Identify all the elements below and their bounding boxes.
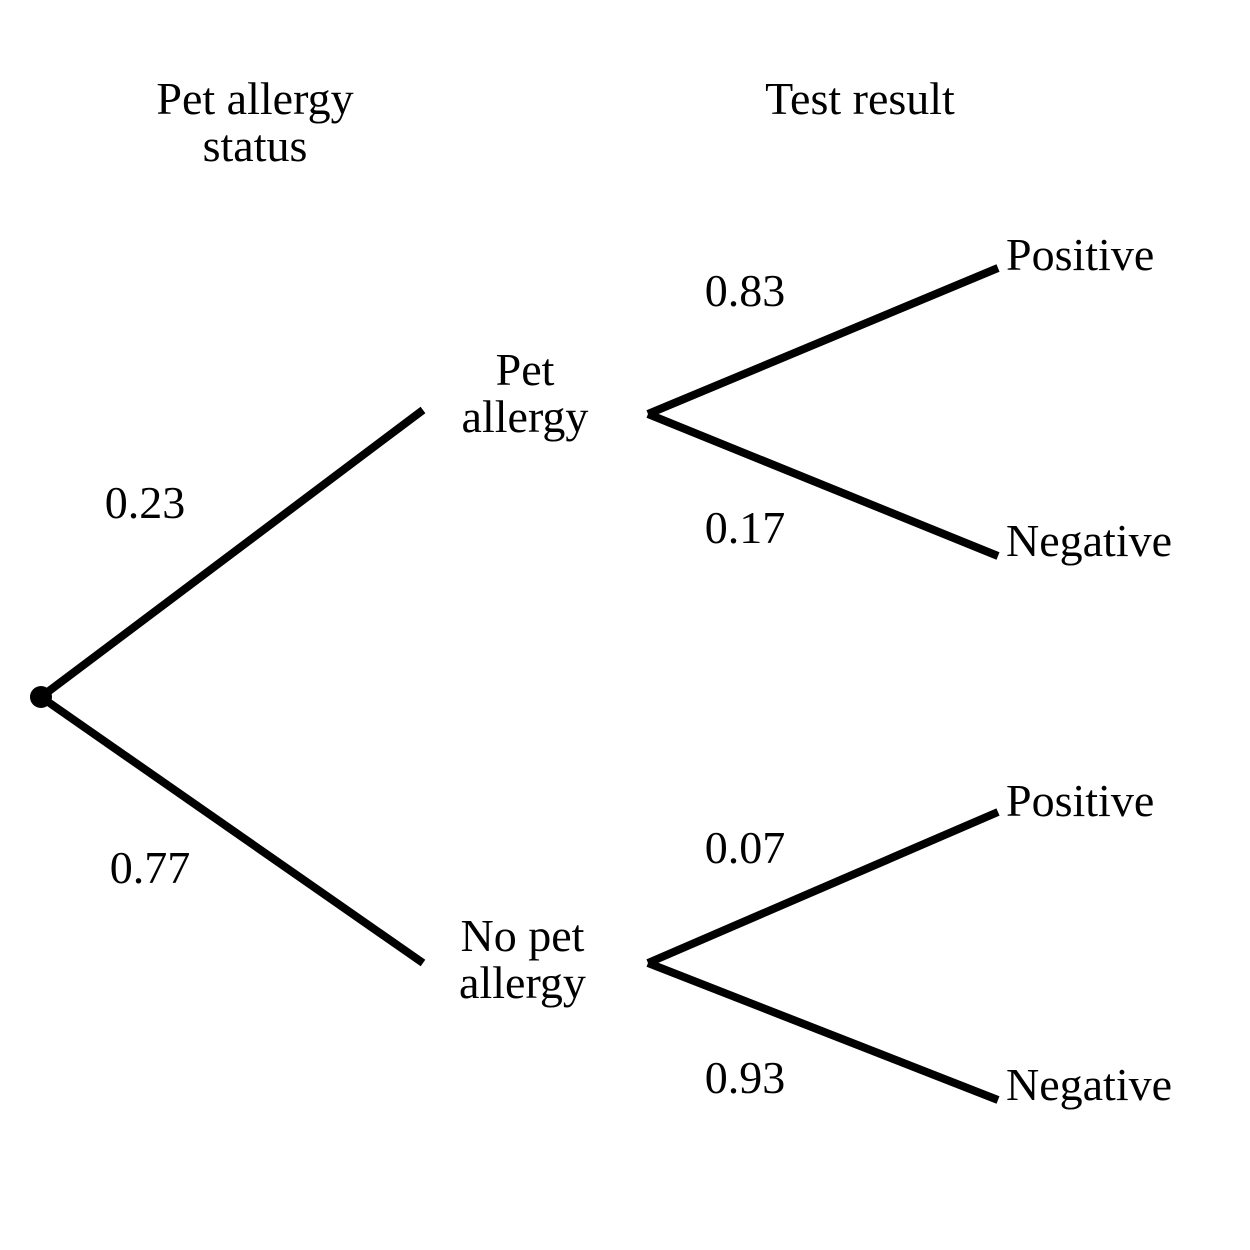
column-header-test-result: Test result <box>690 76 1030 123</box>
leaf-label-positive-pet-allergy: Positive <box>1006 232 1236 279</box>
leaf-label-negative-pet-allergy: Negative <box>1006 518 1246 565</box>
probability-label-negative-given-pet-allergy: 0.17 <box>655 505 835 552</box>
probability-label-positive-given-no-pet-allergy: 0.07 <box>655 825 835 872</box>
probability-label-negative-given-no-pet-allergy: 0.93 <box>655 1055 835 1102</box>
node-label-no-pet-allergy: No pet allergy <box>400 913 645 1007</box>
node-label-pet-allergy: Pet allergy <box>410 347 640 441</box>
branch-line-pet-allergy <box>41 410 423 697</box>
probability-label-positive-given-pet-allergy: 0.83 <box>655 268 835 315</box>
leaf-label-negative-no-pet-allergy: Negative <box>1006 1062 1246 1109</box>
column-header-pet-allergy-status: Pet allergy status <box>55 76 455 170</box>
leaf-label-positive-no-pet-allergy: Positive <box>1006 778 1236 825</box>
probability-label-pet-allergy: 0.23 <box>55 480 235 527</box>
probability-label-no-pet-allergy: 0.77 <box>60 845 240 892</box>
probability-tree-diagram: Pet allergy status Test result 0.23 0.77… <box>0 0 1250 1250</box>
branch-line-no-pet-allergy <box>41 697 423 963</box>
